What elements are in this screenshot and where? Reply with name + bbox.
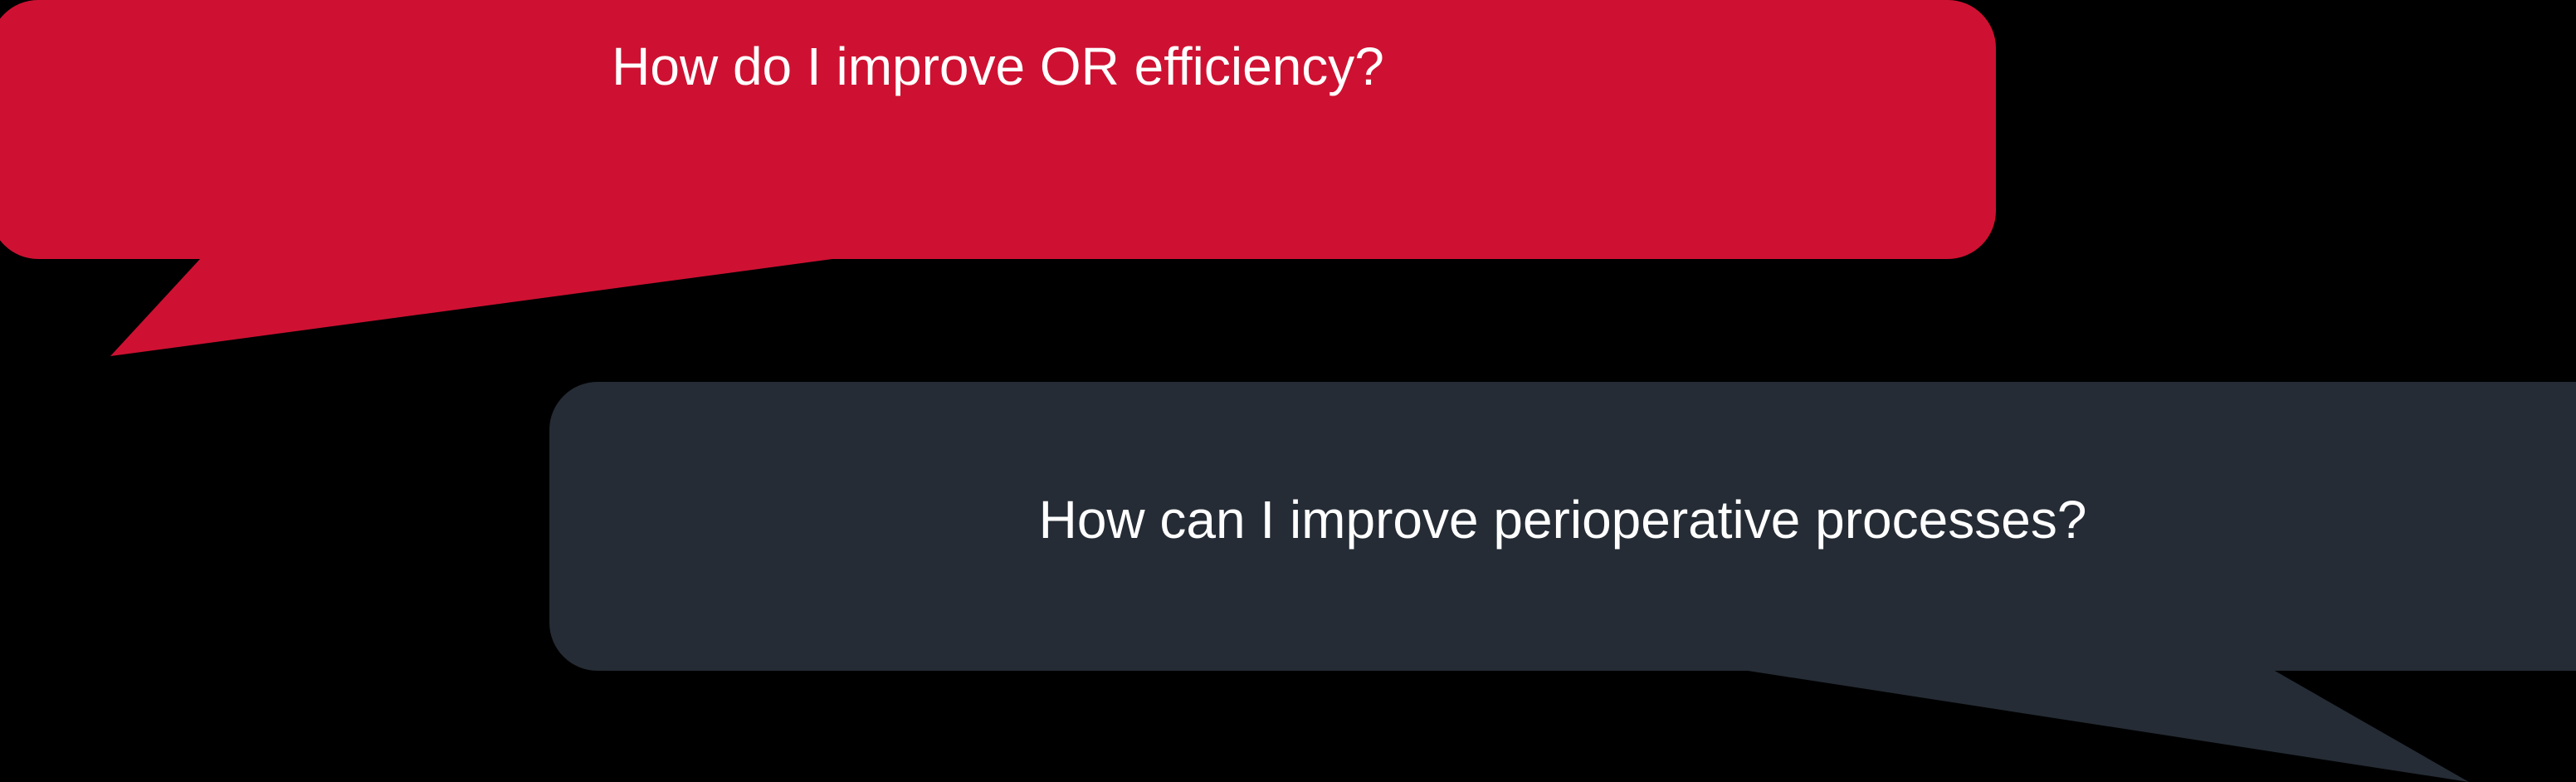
secondary-question-label: How can I improve perioperative processe… [549,493,2576,546]
conversation-canvas: How do I improve OR efficiency? How can … [0,0,2576,782]
primary-question-label: How do I improve OR efficiency? [0,40,1996,93]
speech-bubble-layer [0,0,2576,782]
